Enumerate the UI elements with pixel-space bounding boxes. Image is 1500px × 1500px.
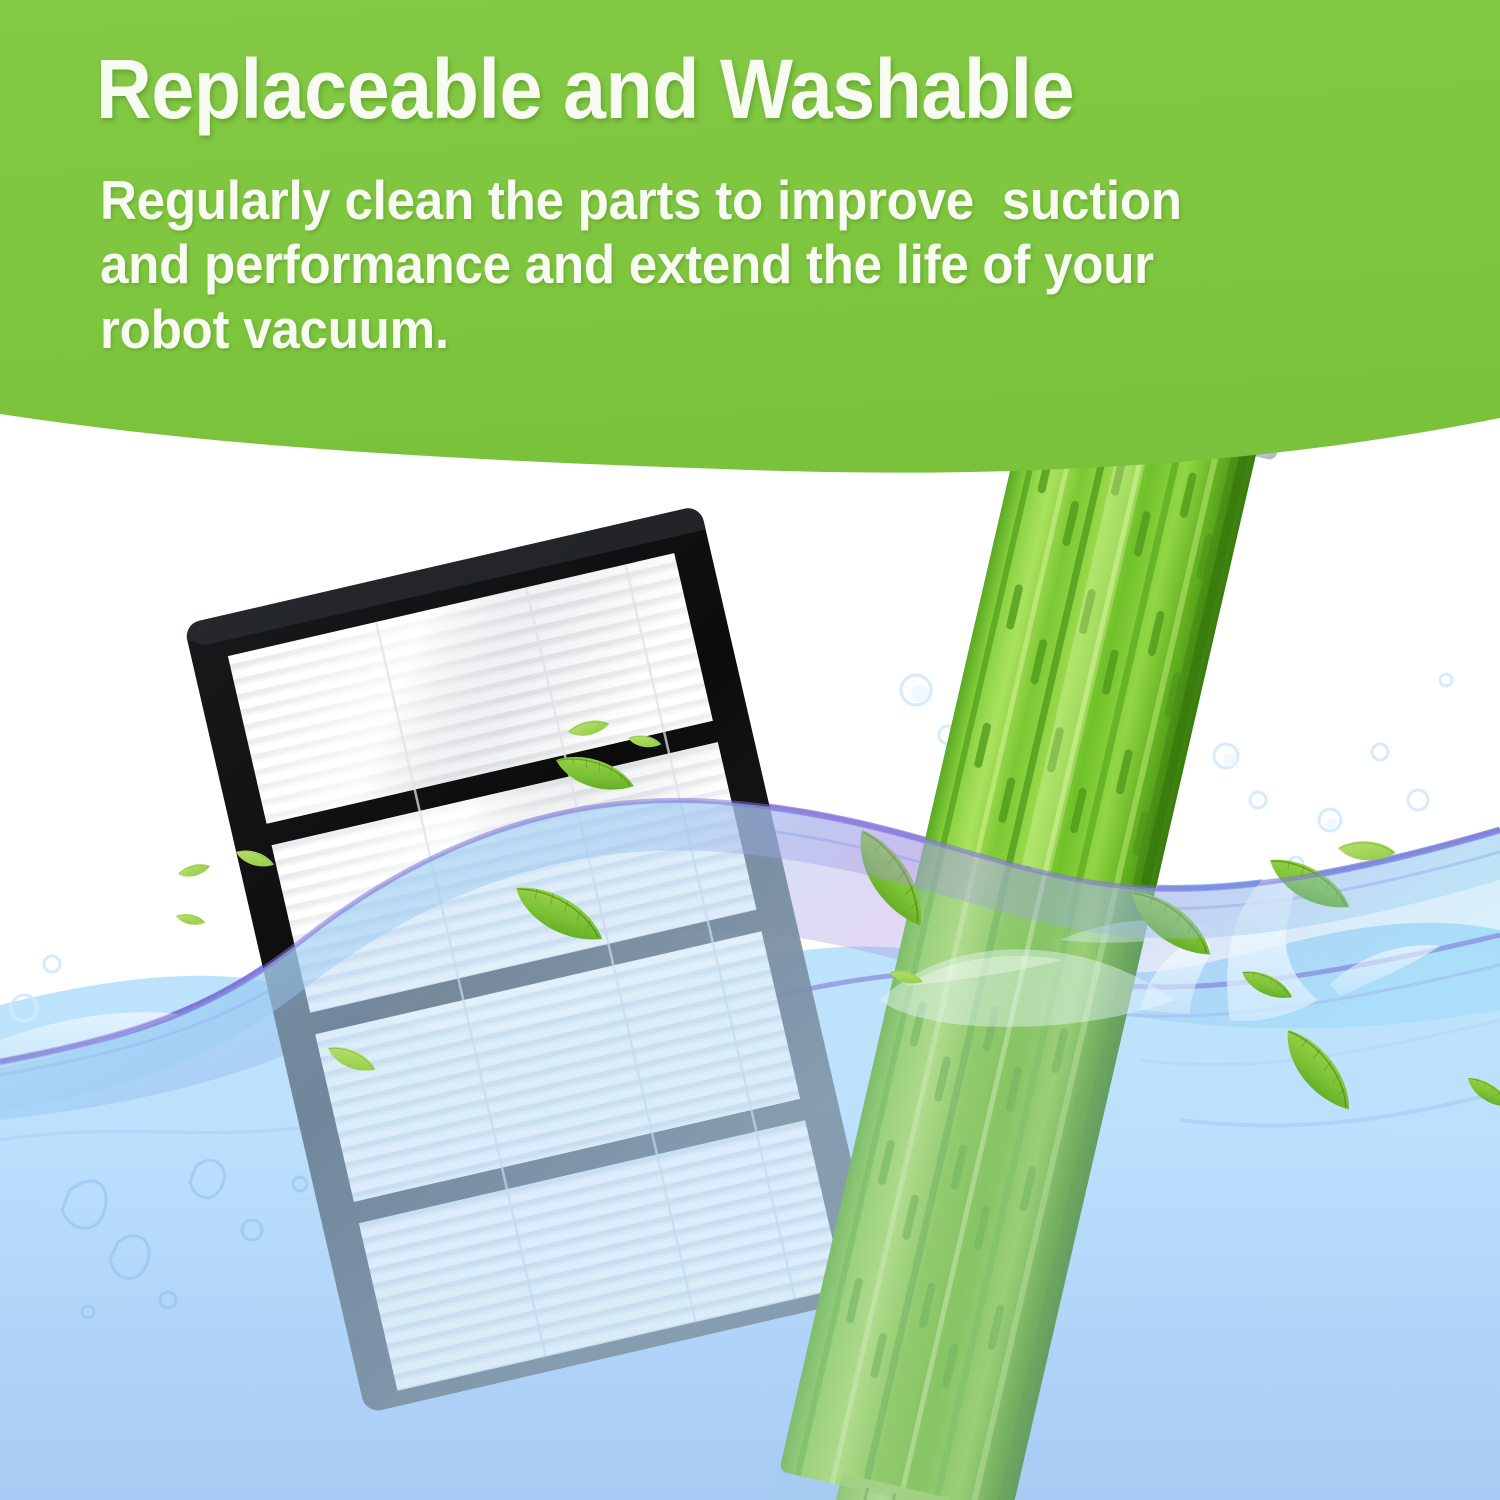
subtitle-line-3: robot vacuum. [100, 297, 1383, 361]
banner-subtitle: Regularly clean the parts to improve suc… [100, 168, 1383, 361]
product-feature-image: Replaceable and Washable Regularly clean… [0, 0, 1500, 1500]
page-title: Replaceable and Washable [96, 48, 1320, 130]
subtitle-line-1: Regularly clean the parts to improve suc… [100, 168, 1383, 232]
banner-text-block: Replaceable and Washable Regularly clean… [0, 0, 1500, 420]
subtitle-line-2: and performance and extend the life of y… [100, 232, 1383, 296]
